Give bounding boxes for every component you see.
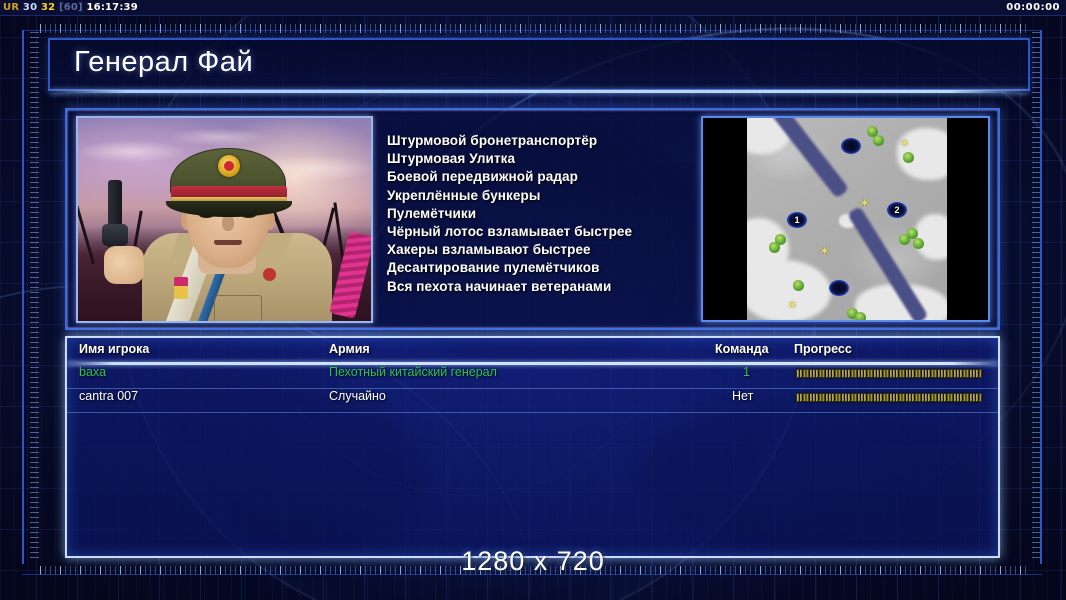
- minimap-resource-icon: ✶: [787, 300, 798, 311]
- column-header-army: Армия: [329, 342, 370, 356]
- minimap-tree: [793, 280, 804, 291]
- portrait-medal: [174, 277, 188, 299]
- status-value-2: 32: [41, 2, 55, 13]
- frame-line-left: [22, 30, 24, 564]
- minimap-resource-icon: ✶: [819, 246, 830, 257]
- portrait-hand: [104, 246, 144, 284]
- status-value-3: [60]: [59, 2, 83, 13]
- minimap-spawn-point[interactable]: [829, 280, 849, 296]
- minimap-tree: [913, 238, 924, 249]
- table-row[interactable]: baxa Пехотный китайский генерал 1: [67, 365, 998, 389]
- game-screen: UR 30 32 [60] 16:17:39 00:00:00 Генерал …: [0, 0, 1066, 600]
- player-name: baxa: [79, 365, 106, 379]
- ruler-left: [30, 32, 39, 562]
- player-name: cantra 007: [79, 389, 138, 403]
- portrait-pocket: [214, 295, 262, 321]
- minimap-frame[interactable]: ✶ ✶ ✶ ✶ 1 2: [701, 116, 990, 322]
- minimap-tree: [899, 234, 910, 245]
- player-team[interactable]: 1: [743, 365, 750, 379]
- minimap-tree: [873, 135, 884, 146]
- player-list-panel: Имя игрока Армия Команда Прогресс baxa П…: [65, 336, 1000, 558]
- row-divider: [67, 412, 998, 413]
- player-progress-bar: [796, 393, 982, 402]
- revolver-cylinder-icon: [102, 224, 128, 246]
- minimap-image[interactable]: ✶ ✶ ✶ ✶ 1 2: [747, 118, 947, 320]
- minimap-tree: [769, 242, 780, 253]
- status-bar-left: UR 30 32 [60] 16:17:39: [3, 0, 138, 16]
- page-title: Генерал Фай: [74, 46, 253, 79]
- table-row[interactable]: cantra 007 Случайно Нет: [67, 389, 998, 413]
- minimap-terrain: [915, 214, 947, 260]
- status-label: UR: [3, 2, 19, 13]
- status-clock: 16:17:39: [87, 2, 138, 13]
- player-progress-bar: [796, 369, 982, 378]
- player-army[interactable]: Случайно: [329, 389, 386, 403]
- status-bar: UR 30 32 [60] 16:17:39 00:00:00: [0, 0, 1066, 16]
- player-army[interactable]: Пехотный китайский генерал: [329, 365, 497, 379]
- title-panel: Генерал Фай: [48, 38, 1030, 91]
- minimap-resource-icon: ✶: [899, 138, 910, 149]
- status-value-1: 30: [23, 2, 37, 13]
- status-timer: 00:00:00: [1006, 0, 1060, 16]
- general-info-panel: Штурмовой бронетранспортёр Штурмовая Ули…: [65, 108, 1000, 330]
- ruler-top: [40, 24, 1030, 33]
- portrait-cap-badge-icon: [218, 155, 240, 177]
- column-header-team: Команда: [715, 342, 769, 356]
- minimap-spawn-point-2[interactable]: 2: [887, 202, 907, 218]
- column-header-name: Имя игрока: [79, 342, 149, 356]
- minimap-resource-icon: ✶: [859, 198, 870, 209]
- minimap-tree: [855, 312, 866, 320]
- minimap-spawn-point-1[interactable]: 1: [787, 212, 807, 228]
- resolution-caption: 1280 x 720: [0, 546, 1066, 577]
- player-table-header: Имя игрока Армия Команда Прогресс: [67, 342, 998, 363]
- portrait-medal-badge: [263, 268, 276, 281]
- minimap-tree: [903, 152, 914, 163]
- minimap-spawn-point[interactable]: [841, 138, 861, 154]
- column-header-progress: Прогресс: [794, 342, 852, 356]
- player-team[interactable]: Нет: [732, 389, 753, 403]
- general-portrait: [76, 116, 373, 323]
- frame-line-right: [1040, 30, 1042, 564]
- frame-line-top: [22, 30, 1042, 31]
- portrait-mouth: [214, 240, 242, 245]
